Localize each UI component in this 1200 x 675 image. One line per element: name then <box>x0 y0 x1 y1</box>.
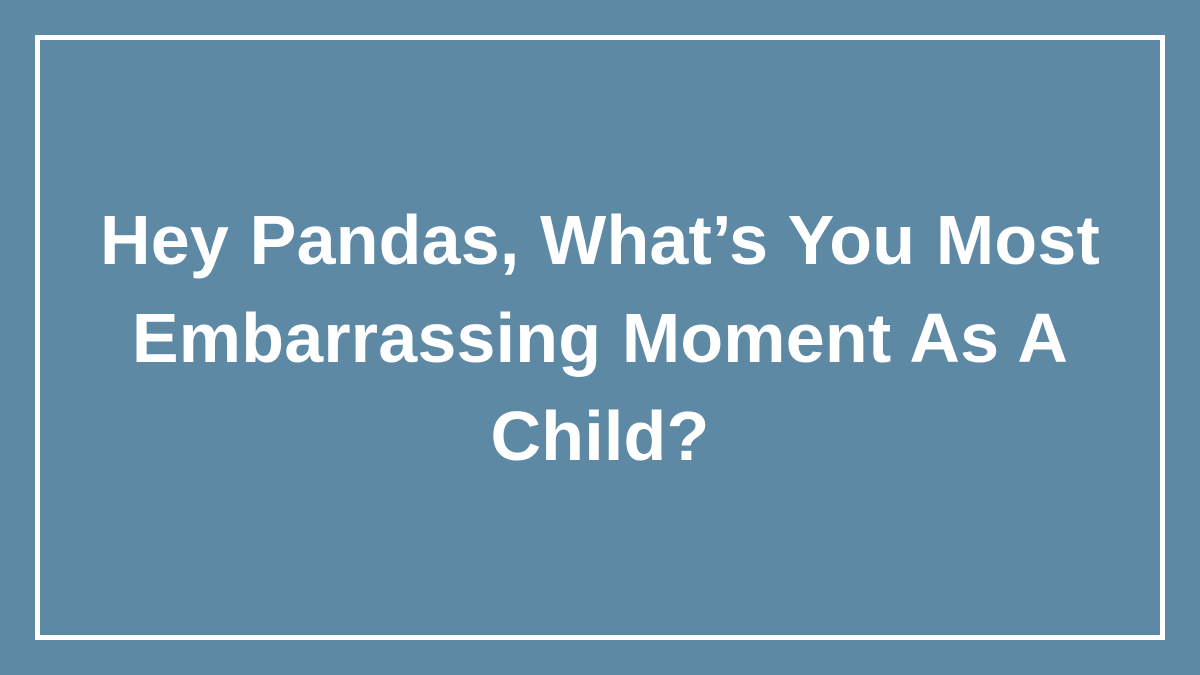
page-title: Hey Pandas, What’s You Most Embarrassing… <box>100 191 1100 485</box>
headline-container: Hey Pandas, What’s You Most Embarrassing… <box>35 35 1165 640</box>
question-card: Hey Pandas, What’s You Most Embarrassing… <box>0 0 1200 675</box>
headline-line-1: Hey Pandas, What’s You Most <box>100 191 1100 289</box>
headline-line-2: Embarrassing Moment As A <box>100 289 1100 387</box>
headline-line-3: Child? <box>100 387 1100 485</box>
